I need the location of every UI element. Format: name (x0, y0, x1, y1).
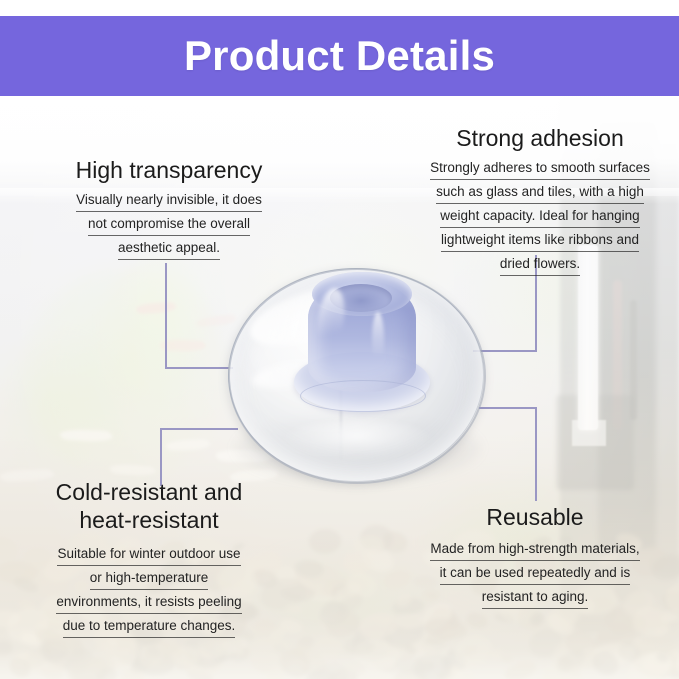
feature-body-cold-heat-resistant: Suitable for winter outdoor use or high-… (14, 544, 284, 638)
feature-body-line: Made from high-strength materials, (430, 539, 639, 561)
feature-body-strong-adhesion: Strongly adheres to smooth surfaces such… (404, 158, 676, 276)
feature-strong-adhesion: Strong adhesion Strongly adheres to smoo… (404, 124, 676, 278)
feature-reusable: Reusable Made from high-strength materia… (399, 503, 671, 611)
feature-body-line: lightweight items like ribbons and (441, 230, 639, 252)
feature-body-line: weight capacity. Ideal for hanging (440, 206, 639, 228)
feature-body-line: it can be used repeatedly and is (440, 563, 631, 585)
feature-body-line: Strongly adheres to smooth surfaces (430, 158, 650, 180)
feature-heading-cold-heat-resistant: Cold-resistant and heat-resistant (14, 478, 284, 534)
feature-body-line: environments, it resists peeling (56, 592, 241, 614)
feature-body-line: dried flowers. (500, 254, 580, 276)
feature-high-transparency: High transparency Visually nearly invisi… (24, 156, 314, 262)
feature-body-line: aesthetic appeal. (118, 238, 220, 260)
feature-cold-heat-resistant: Cold-resistant and heat-resistant Suitab… (14, 478, 284, 640)
feature-heading-high-transparency: High transparency (24, 156, 314, 184)
feature-body-line: resistant to aging. (482, 587, 589, 609)
feature-body-reusable: Made from high-strength materials, it ca… (399, 539, 671, 609)
connector-high-transparency-vertical (165, 263, 167, 369)
feature-body-line: or high-temperature (90, 568, 209, 590)
cup-knob-edge (300, 380, 426, 412)
feature-body-high-transparency: Visually nearly invisible, it does not c… (24, 190, 314, 260)
cup-knob-highlight (372, 312, 384, 368)
feature-heading-strong-adhesion: Strong adhesion (404, 124, 676, 152)
suction-cup-image (222, 252, 492, 492)
feature-heading-reusable: Reusable (399, 503, 671, 531)
feature-body-line: such as glass and tiles, with a high (436, 182, 644, 204)
feature-body-line: Suitable for winter outdoor use (57, 544, 240, 566)
cup-bottom-sheen (282, 420, 432, 460)
product-details-infographic: Product Details High transparency (0, 0, 679, 679)
connector-reusable-vertical (535, 407, 537, 501)
feature-body-line: Visually nearly invisible, it does (76, 190, 262, 212)
feature-heading-line: Cold-resistant and (56, 479, 243, 505)
feature-body-line: due to temperature changes. (63, 616, 236, 638)
feature-body-line: not compromise the overall (88, 214, 250, 236)
feature-heading-line: heat-resistant (79, 507, 218, 533)
